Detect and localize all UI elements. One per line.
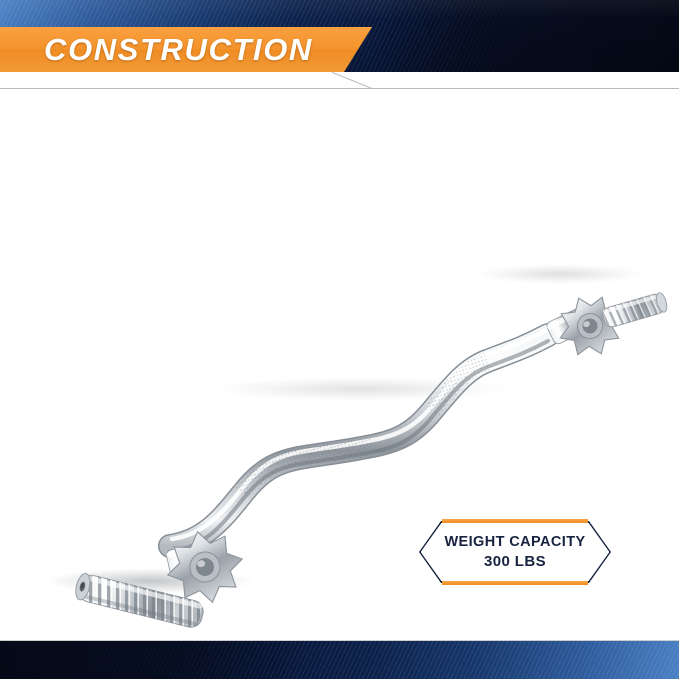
weight-capacity-badge: WEIGHT CAPACITY 300 LBS bbox=[419, 521, 611, 583]
badge-line-1: WEIGHT CAPACITY bbox=[444, 534, 585, 550]
section-title-text: CONSTRUCTION bbox=[44, 32, 313, 68]
header-divider-slant bbox=[332, 72, 372, 89]
section-title: CONSTRUCTION bbox=[44, 27, 384, 72]
badge-text-group: WEIGHT CAPACITY 300 LBS bbox=[419, 521, 611, 583]
badge-line-2: 300 LBS bbox=[484, 553, 546, 570]
footer-band bbox=[0, 641, 679, 679]
footer-dark-fade bbox=[0, 641, 679, 679]
infographic-page: CONSTRUCTION bbox=[0, 0, 679, 679]
